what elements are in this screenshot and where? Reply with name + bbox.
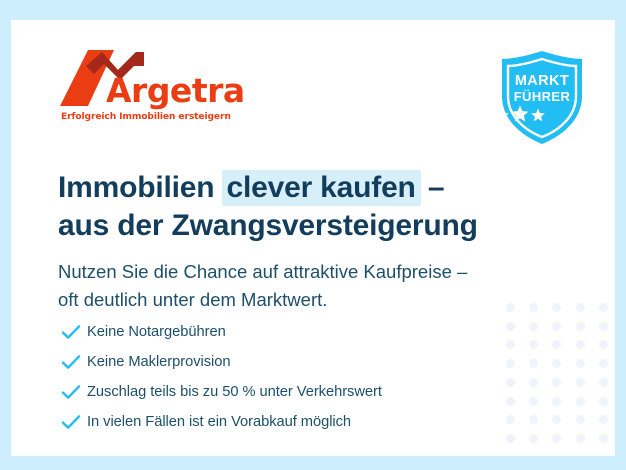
decoration-dot [599, 322, 608, 331]
checklist-item-label: Zuschlag teils bis zu 50 % unter Verkehr… [87, 384, 382, 400]
checklist-item-label: Keine Maklerprovision [87, 354, 230, 370]
checklist-item: Keine Notargebühren [61, 317, 541, 347]
decoration-dot [599, 415, 608, 424]
badge-line-2: FÜHRER [492, 89, 592, 104]
decoration-dot [599, 359, 608, 368]
decoration-dot [576, 378, 585, 387]
subheadline-line-1: Nutzen Sie die Chance auf attraktive Kau… [58, 258, 558, 287]
decoration-dot [576, 434, 585, 443]
checklist-item: In vielen Fällen ist ein Vorabkauf mögli… [61, 407, 541, 437]
checklist-item-label: In vielen Fällen ist ein Vorabkauf mögli… [87, 414, 351, 430]
headline-highlight: clever kaufen [222, 170, 421, 206]
decoration-dot [576, 397, 585, 406]
decoration-dot [576, 303, 585, 312]
badge-stars [492, 105, 592, 123]
argetra-logo[interactable]: Argetra Erfolgreich Immobilien ersteiger… [58, 48, 258, 128]
checklist-item-label: Keine Notargebühren [87, 324, 226, 340]
benefits-checklist: Keine NotargebührenKeine Maklerprovision… [61, 317, 541, 437]
decoration-dot [552, 359, 561, 368]
decoration-dot [599, 434, 608, 443]
headline-text-before: Immobilien [58, 171, 223, 204]
check-icon [61, 414, 87, 430]
decoration-dot [599, 303, 608, 312]
decoration-dot [552, 434, 561, 443]
decoration-dot [599, 397, 608, 406]
decoration-dot [552, 340, 561, 349]
checklist-item: Keine Maklerprovision [61, 347, 541, 377]
decoration-dot [552, 322, 561, 331]
headline-line-1: Immobilien clever kaufen – [58, 169, 538, 207]
promo-banner: Argetra Erfolgreich Immobilien ersteiger… [0, 0, 626, 470]
subheadline-line-2: oft deutlich unter dem Marktwert. [58, 286, 558, 315]
page-subheadline: Nutzen Sie die Chance auf attraktive Kau… [58, 258, 558, 315]
decoration-dot [576, 415, 585, 424]
headline-line-2: aus der Zwangsversteigerung [58, 207, 538, 245]
badge-line-1: MARKT [492, 73, 592, 89]
check-icon [61, 324, 87, 340]
check-icon [61, 384, 87, 400]
three-stars-icon [492, 105, 548, 123]
decoration-dot [576, 340, 585, 349]
decoration-dot [599, 340, 608, 349]
markt-fuehrer-badge: MARKT FÜHRER [492, 48, 592, 148]
decoration-dot [576, 322, 585, 331]
logo-wordmark: Argetra [106, 74, 245, 107]
checklist-item: Zuschlag teils bis zu 50 % unter Verkehr… [61, 377, 541, 407]
decoration-dot [576, 359, 585, 368]
decoration-dot [552, 397, 561, 406]
logo-tagline: Erfolgreich Immobilien ersteigern [61, 111, 231, 122]
banner-card: Argetra Erfolgreich Immobilien ersteiger… [11, 20, 615, 456]
decoration-dot [552, 378, 561, 387]
headline-text-after: – [420, 171, 445, 204]
decoration-dot [599, 378, 608, 387]
decoration-dot [552, 415, 561, 424]
check-icon [61, 354, 87, 370]
page-headline: Immobilien clever kaufen – aus der Zwang… [58, 169, 538, 245]
